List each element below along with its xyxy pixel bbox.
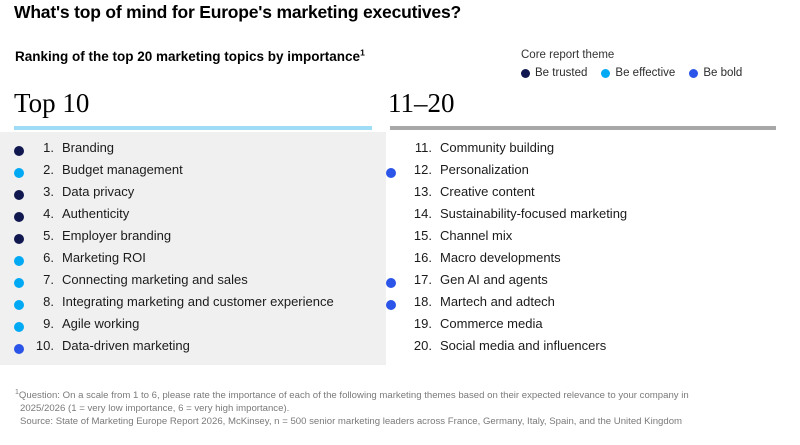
rank-theme-dot-cell xyxy=(0,322,24,332)
rank-number: 17. xyxy=(396,272,432,287)
rank-number: 3. xyxy=(24,184,54,199)
rank-item-1[interactable]: 1.Branding xyxy=(0,140,386,162)
legend-label-be-bold: Be bold xyxy=(703,67,742,79)
rank-label: Data privacy xyxy=(54,184,134,199)
rank-number: 2. xyxy=(24,162,54,177)
rank-item-10[interactable]: 10.Data-driven marketing xyxy=(0,338,386,360)
rank-item-2[interactable]: 2.Budget management xyxy=(0,162,386,184)
theme-dot-icon xyxy=(14,234,24,244)
rank-item-6[interactable]: 6.Marketing ROI xyxy=(0,250,386,272)
rank-item-15[interactable]: 15.Channel mix xyxy=(386,228,800,250)
rank-theme-dot-cell xyxy=(0,256,24,266)
rank-label: Channel mix xyxy=(432,228,512,243)
rank-item-12[interactable]: 12.Personalization xyxy=(386,162,800,184)
rank-item-19[interactable]: 19.Commerce media xyxy=(386,316,800,338)
footnote-question-text-1: Question: On a scale from 1 to 6, please… xyxy=(19,390,689,401)
rank-label: Community building xyxy=(432,140,554,155)
rank-theme-dot-cell xyxy=(0,212,24,222)
rank-number: 7. xyxy=(24,272,54,287)
rank-label: Commerce media xyxy=(432,316,543,331)
legend-dot-be-trusted-icon xyxy=(521,69,530,78)
rank-theme-dot-cell xyxy=(386,300,396,310)
theme-dot-icon xyxy=(14,344,24,354)
subtitle-footnote-marker: 1 xyxy=(360,48,365,58)
rank-item-18[interactable]: 18.Martech and adtech xyxy=(386,294,800,316)
legend-item-be-trusted[interactable]: Be trusted xyxy=(521,67,587,79)
ranking-list-top-10: 1.Branding2.Budget management3.Data priv… xyxy=(0,140,386,360)
legend-items: Be trusted Be effective Be bold xyxy=(521,67,796,79)
theme-dot-icon xyxy=(386,278,396,288)
rank-item-14[interactable]: 14.Sustainability-focused marketing xyxy=(386,206,800,228)
rank-number: 8. xyxy=(24,294,54,309)
rank-number: 9. xyxy=(24,316,54,331)
footnotes: 1Question: On a scale from 1 to 6, pleas… xyxy=(15,389,790,429)
column-heading-11-20: 11–20 xyxy=(388,88,455,119)
column-rule-right xyxy=(390,126,776,130)
rank-label: Sustainability-focused marketing xyxy=(432,206,627,221)
rank-number: 19. xyxy=(396,316,432,331)
rank-number: 4. xyxy=(24,206,54,221)
theme-dot-icon xyxy=(14,190,24,200)
rank-label: Branding xyxy=(54,140,114,155)
legend-dot-be-bold-icon xyxy=(689,69,698,78)
rank-theme-dot-cell xyxy=(0,278,24,288)
legend-title: Core report theme xyxy=(521,48,796,62)
footnote-question-line-2: 2025/2026 (1 = very low importance, 6 = … xyxy=(15,402,790,415)
theme-dot-icon xyxy=(14,278,24,288)
rank-number: 15. xyxy=(396,228,432,243)
rank-number: 10. xyxy=(24,338,54,353)
rank-theme-dot-cell xyxy=(0,168,24,178)
rank-item-9[interactable]: 9.Agile working xyxy=(0,316,386,338)
rank-theme-dot-cell xyxy=(386,278,396,288)
rank-theme-dot-cell xyxy=(0,234,24,244)
legend-item-be-effective[interactable]: Be effective xyxy=(601,67,675,79)
rank-number: 11. xyxy=(396,140,432,155)
theme-dot-icon xyxy=(386,300,396,310)
rank-label: Integrating marketing and customer exper… xyxy=(54,294,334,309)
legend-dot-be-effective-icon xyxy=(601,69,610,78)
rank-theme-dot-cell xyxy=(0,344,24,354)
ranking-list-11-20: 11.Community building12.Personalization1… xyxy=(386,140,800,360)
rank-label: Martech and adtech xyxy=(432,294,555,309)
rank-label: Budget management xyxy=(54,162,183,177)
legend-label-be-trusted: Be trusted xyxy=(535,67,587,79)
rank-theme-dot-cell xyxy=(0,300,24,310)
footnote-question-line-1: 1Question: On a scale from 1 to 6, pleas… xyxy=(15,389,790,402)
rank-label: Macro developments xyxy=(432,250,561,265)
rank-item-7[interactable]: 7.Connecting marketing and sales xyxy=(0,272,386,294)
rank-label: Connecting marketing and sales xyxy=(54,272,248,287)
rank-number: 6. xyxy=(24,250,54,265)
theme-dot-icon xyxy=(386,168,396,178)
rank-item-8[interactable]: 8.Integrating marketing and customer exp… xyxy=(0,294,386,316)
theme-dot-icon xyxy=(14,256,24,266)
legend-item-be-bold[interactable]: Be bold xyxy=(689,67,742,79)
rank-theme-dot-cell xyxy=(386,168,396,178)
rank-number: 18. xyxy=(396,294,432,309)
rank-item-5[interactable]: 5.Employer branding xyxy=(0,228,386,250)
rank-number: 5. xyxy=(24,228,54,243)
rank-item-3[interactable]: 3.Data privacy xyxy=(0,184,386,206)
rank-label: Data-driven marketing xyxy=(54,338,190,353)
theme-dot-icon xyxy=(14,322,24,332)
theme-dot-icon xyxy=(14,168,24,178)
column-heading-top-10: Top 10 xyxy=(14,88,89,119)
rank-item-17[interactable]: 17.Gen AI and agents xyxy=(386,272,800,294)
rank-label: Employer branding xyxy=(54,228,171,243)
rank-label: Agile working xyxy=(54,316,139,331)
rank-theme-dot-cell xyxy=(0,190,24,200)
rank-number: 14. xyxy=(396,206,432,221)
theme-dot-icon xyxy=(14,300,24,310)
rank-item-4[interactable]: 4.Authenticity xyxy=(0,206,386,228)
rank-item-13[interactable]: 13.Creative content xyxy=(386,184,800,206)
rank-theme-dot-cell xyxy=(0,146,24,156)
theme-dot-icon xyxy=(14,212,24,222)
chart-subtitle-text: Ranking of the top 20 marketing topics b… xyxy=(15,49,360,64)
theme-dot-icon xyxy=(14,146,24,156)
footnote-source: Source: State of Marketing Europe Report… xyxy=(15,415,790,428)
rank-label: Creative content xyxy=(432,184,535,199)
chart-subtitle: Ranking of the top 20 marketing topics b… xyxy=(15,49,365,64)
legend-label-be-effective: Be effective xyxy=(615,67,675,79)
page-title: What's top of mind for Europe's marketin… xyxy=(14,2,461,23)
rank-label: Marketing ROI xyxy=(54,250,146,265)
rank-item-16[interactable]: 16.Macro developments xyxy=(386,250,800,272)
rank-item-20[interactable]: 20.Social media and influencers xyxy=(386,338,800,360)
rank-label: Personalization xyxy=(432,162,529,177)
rank-label: Gen AI and agents xyxy=(432,272,548,287)
column-rule-left xyxy=(14,126,372,130)
rank-number: 13. xyxy=(396,184,432,199)
rank-number: 16. xyxy=(396,250,432,265)
legend: Core report theme Be trusted Be effectiv… xyxy=(521,48,796,79)
rank-number: 1. xyxy=(24,140,54,155)
rank-label: Social media and influencers xyxy=(432,338,606,353)
rank-number: 12. xyxy=(396,162,432,177)
rank-label: Authenticity xyxy=(54,206,129,221)
rank-item-11[interactable]: 11.Community building xyxy=(386,140,800,162)
rank-number: 20. xyxy=(396,338,432,353)
